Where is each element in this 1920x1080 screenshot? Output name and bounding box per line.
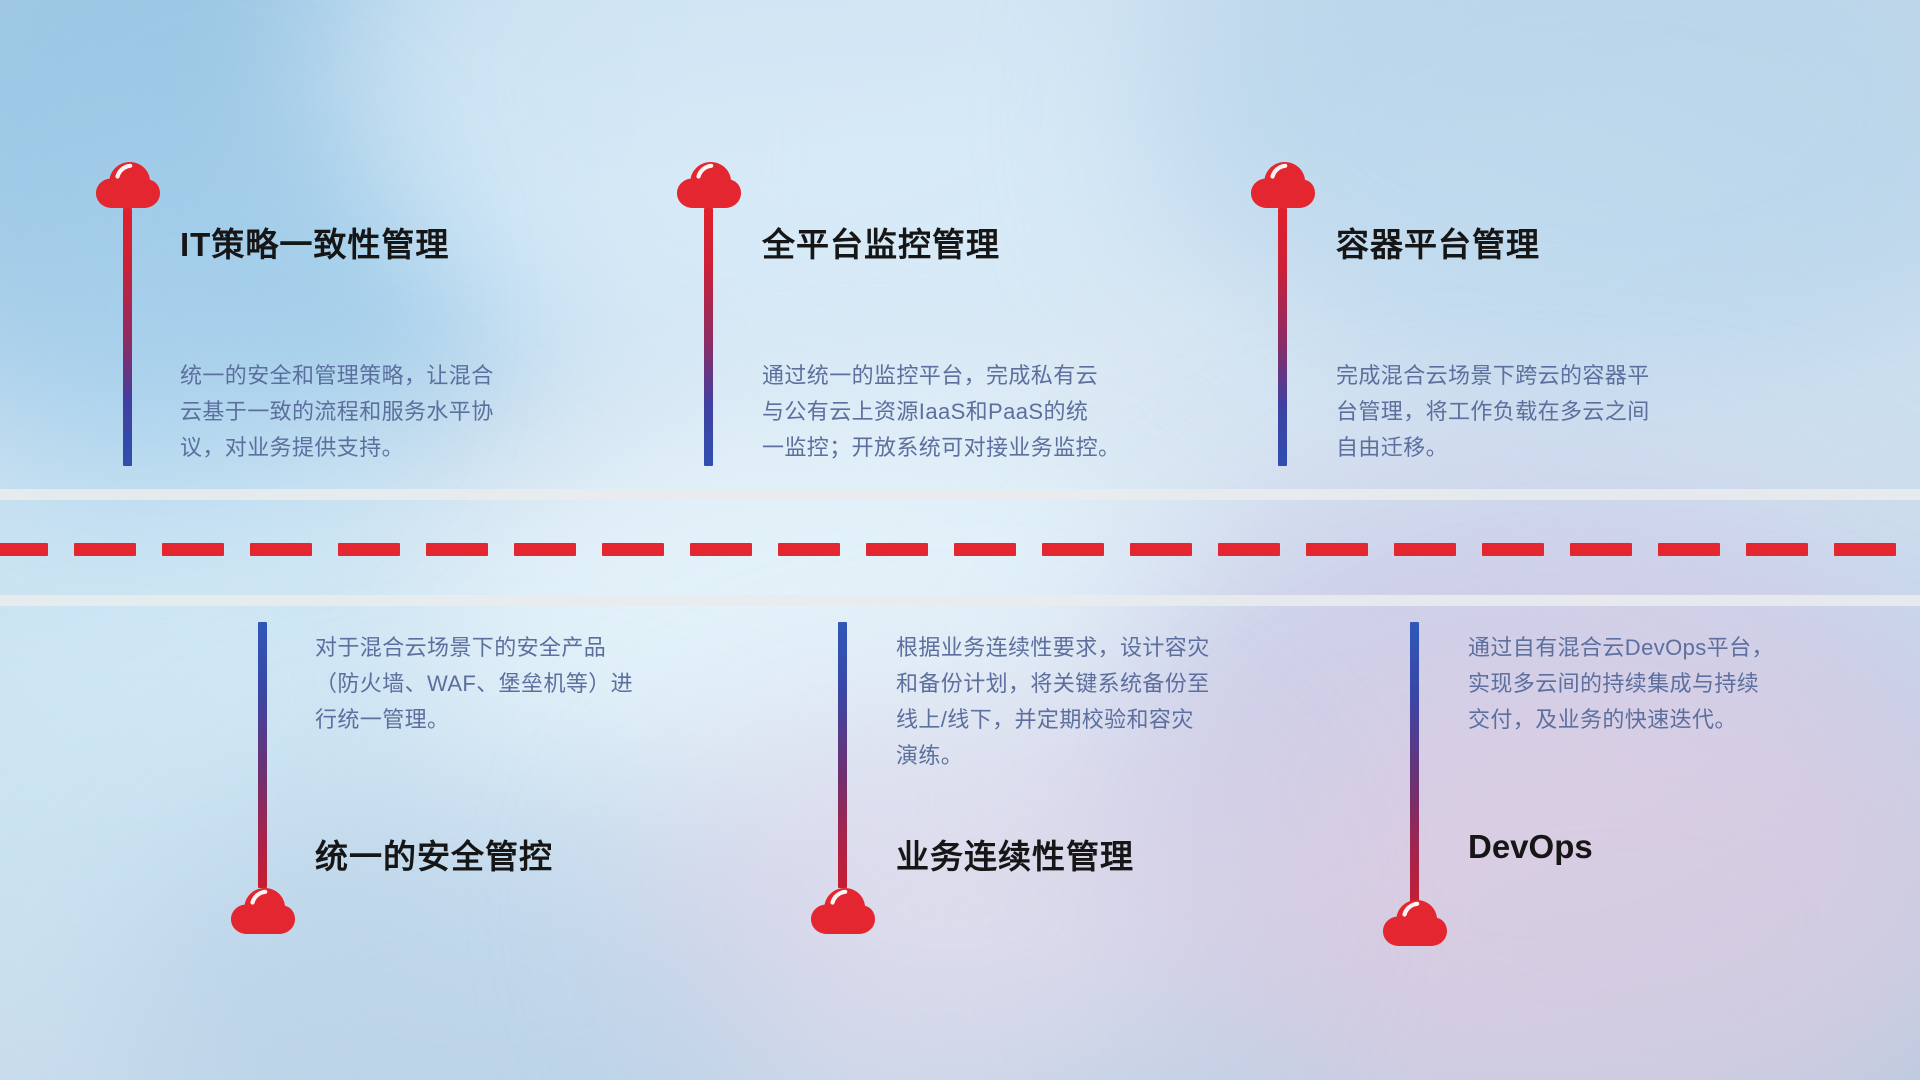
timeline-bar [704,208,713,466]
bottom-item-body: 对于混合云场景下的安全产品 （防火墙、WAF、堡垒机等）进 行统一管理。 [315,630,745,738]
top-item-body: 通过统一的监控平台，完成私有云 与公有云上资源IaaS和PaaS的统 一监控；开… [762,358,1202,466]
cloud-icon [810,886,876,936]
divider-dash [1570,543,1632,556]
divider-dash [602,543,664,556]
bottom-item-body: 根据业务连续性要求，设计容灾 和备份计划，将关键系统备份至 线上/线下，并定期校… [896,630,1326,774]
divider-line-top [0,489,1920,500]
divider-line-bottom [0,595,1920,606]
cloud-icon [95,160,161,210]
cloud-icon [1382,898,1448,948]
top-item-body: 完成混合云场景下跨云的容器平 台管理，将工作负载在多云之间 自由迁移。 [1336,358,1766,466]
divider-dash [778,543,840,556]
divider-dash [514,543,576,556]
divider-dash [1394,543,1456,556]
top-item-body: 统一的安全和管理策略，让混合 云基于一致的流程和服务水平协 议，对业务提供支持。 [180,358,610,466]
divider-dash [866,543,928,556]
top-item-title: IT策略一致性管理 [180,218,449,266]
timeline-bar [1410,622,1419,910]
divider-dash [1130,543,1192,556]
bottom-item-title: DevOps [1468,828,1593,866]
divider-dash [1746,543,1808,556]
divider-dash [1482,543,1544,556]
top-item-title: 全平台监控管理 [762,218,1000,266]
divider-dash [690,543,752,556]
bottom-item-title: 统一的安全管控 [315,830,553,878]
bottom-item-body: 通过自有混合云DevOps平台， 实现多云间的持续集成与持续 交付，及业务的快速… [1468,630,1898,738]
bottom-item-title: 业务连续性管理 [896,830,1134,878]
cloud-icon [676,160,742,210]
timeline-bar [258,622,267,888]
divider-dash [0,543,48,556]
timeline-bar [123,208,132,466]
cloud-icon [230,886,296,936]
top-item-title: 容器平台管理 [1336,218,1540,266]
divider-dash [1834,543,1896,556]
divider-dash [954,543,1016,556]
divider-dash [1218,543,1280,556]
divider-dash [162,543,224,556]
timeline-bar [1278,208,1287,466]
divider-dash [1658,543,1720,556]
divider-dash [1042,543,1104,556]
cloud-icon [1250,160,1316,210]
timeline-bar [838,622,847,888]
divider-dash [74,543,136,556]
divider-dashed-line [0,543,1920,556]
divider-dash [426,543,488,556]
divider-dash [1306,543,1368,556]
divider-dash [250,543,312,556]
divider-dash [338,543,400,556]
infographic-canvas: IT策略一致性管理 统一的安全和管理策略，让混合 云基于一致的流程和服务水平协 … [0,0,1920,1080]
